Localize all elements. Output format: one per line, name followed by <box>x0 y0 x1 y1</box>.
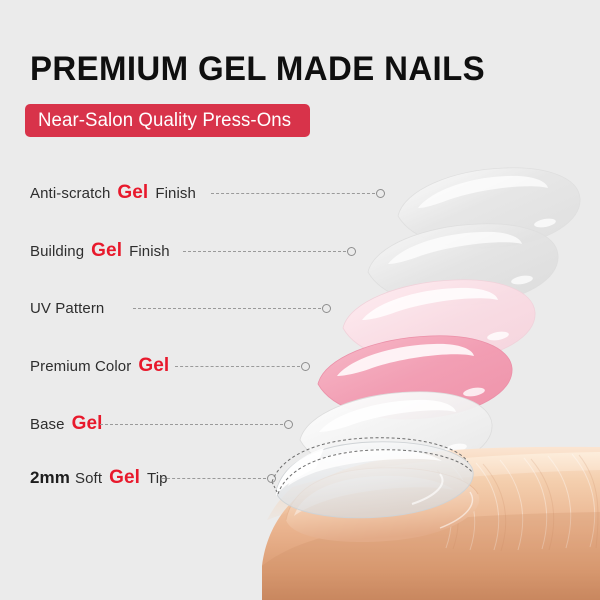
label-part-normal: Base <box>30 416 65 433</box>
label-part-gel: Gel <box>72 413 103 435</box>
label-part-normal: Soft <box>75 470 102 487</box>
label-part-strong: 2mm <box>30 468 70 488</box>
callout-label-uv-pattern: UV Pattern <box>30 295 104 321</box>
label-part-normal: Tip <box>147 470 168 487</box>
callout-label-base-gel: BaseGel <box>30 411 103 437</box>
subtitle-badge-label: Near-Salon Quality Press-Ons <box>38 111 291 130</box>
label-part-normal: Anti-scratch <box>30 185 110 202</box>
callout-label-anti-scratch-gel-finish: Anti-scratchGelFinish <box>30 180 196 206</box>
label-part-normal: Finish <box>129 243 170 260</box>
product-infographic: PREMIUM GEL MADE NAILS Near-Salon Qualit… <box>0 0 600 600</box>
subtitle-badge: Near-Salon Quality Press-Ons <box>25 104 310 137</box>
callout-label-premium-color-gel: Premium ColorGel <box>30 353 169 379</box>
label-part-gel: Gel <box>138 355 169 377</box>
label-part-normal: UV Pattern <box>30 300 104 317</box>
page-title: PREMIUM GEL MADE NAILS <box>30 49 485 89</box>
label-part-gel: Gel <box>117 182 148 204</box>
label-part-normal: Premium Color <box>30 358 131 375</box>
callout-label-2mm-soft-gel-tip: 2mmSoftGelTip <box>30 465 168 491</box>
label-part-normal: Finish <box>155 185 196 202</box>
label-part-gel: Gel <box>91 240 122 262</box>
label-part-gel: Gel <box>109 467 140 489</box>
callout-label-building-gel-finish: BuildingGelFinish <box>30 238 170 264</box>
label-part-normal: Building <box>30 243 84 260</box>
